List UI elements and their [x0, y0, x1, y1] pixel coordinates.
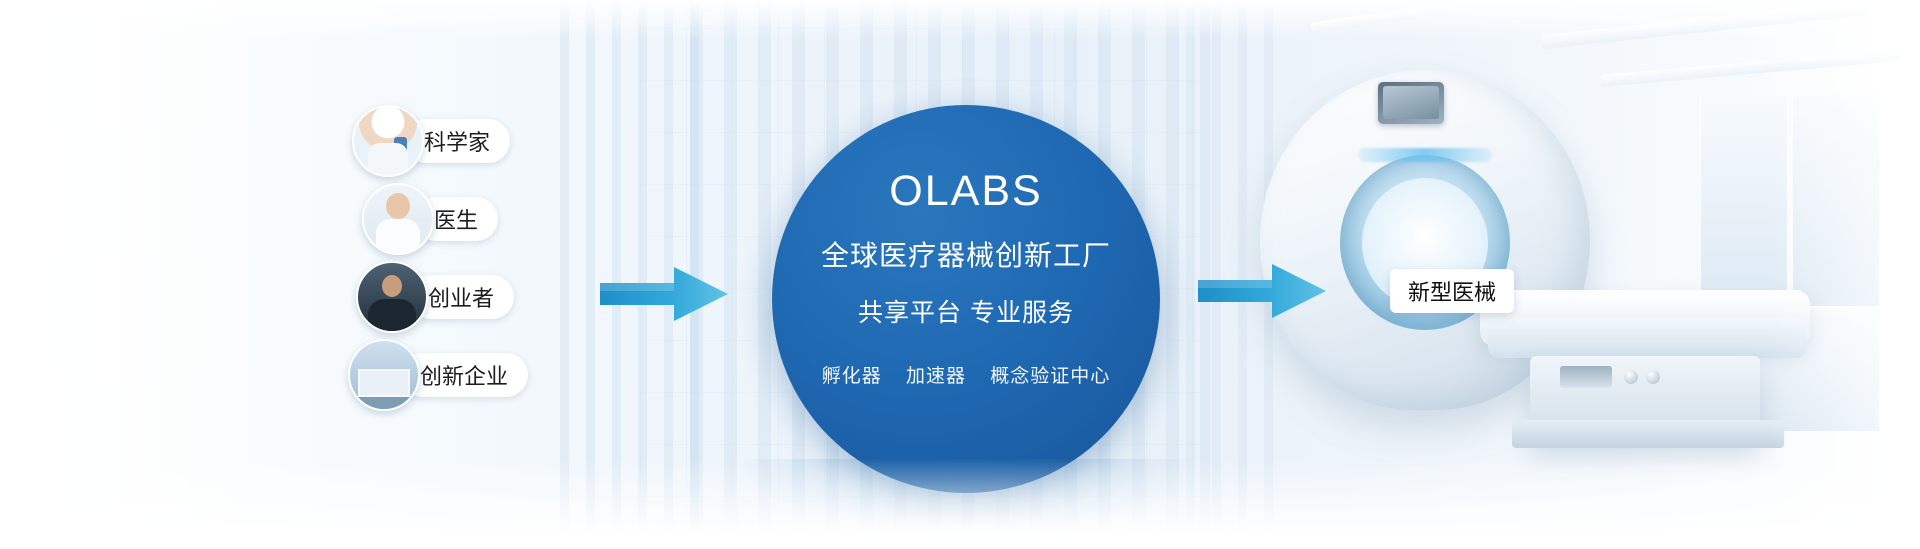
top-vignette — [0, 0, 1920, 40]
persona-item-company[interactable]: 创新企业 — [348, 339, 528, 411]
input-arrow — [600, 265, 730, 323]
hero-banner: 科学家 医生 创业者 创新企业 — [0, 0, 1920, 549]
mri-display-screen — [1383, 86, 1439, 119]
service-item-incubator: 孵化器 — [822, 366, 882, 387]
scientist-avatar — [352, 105, 424, 177]
service-item-poc-center: 概念验证中心 — [990, 366, 1110, 387]
company-building-avatar — [348, 339, 420, 411]
persona-list: 科学家 医生 创业者 创新企业 — [352, 105, 642, 435]
mri-knob-1 — [1624, 370, 1638, 384]
output-label: 新型医械 — [1390, 269, 1514, 313]
output-arrow — [1198, 262, 1328, 320]
service-list: 孵化器 加速器 概念验证中心 — [813, 361, 1120, 388]
mri-floor-base — [1512, 420, 1784, 448]
brand-subtitle: 共享平台 专业服务 — [858, 293, 1074, 329]
mri-knob-2 — [1646, 370, 1660, 384]
persona-item-doctor[interactable]: 医生 — [362, 183, 498, 255]
mri-control-panel — [1560, 366, 1612, 388]
center-circle: OLABS 全球医疗器械创新工厂 共享平台 专业服务 孵化器 加速器 概念验证中… — [772, 105, 1160, 493]
entrepreneur-avatar — [356, 261, 428, 333]
service-item-accelerator: 加速器 — [906, 366, 966, 387]
bottom-vignette — [0, 459, 1920, 549]
persona-item-scientist[interactable]: 科学家 — [352, 105, 510, 177]
mri-bore-light — [1358, 148, 1492, 162]
persona-item-entrepreneur[interactable]: 创业者 — [356, 261, 514, 333]
mri-patient-table-base — [1488, 318, 1806, 358]
brand-title: OLABS — [889, 167, 1042, 216]
brand-tagline: 全球医疗器械创新工厂 — [821, 234, 1111, 274]
doctor-avatar — [362, 183, 434, 255]
